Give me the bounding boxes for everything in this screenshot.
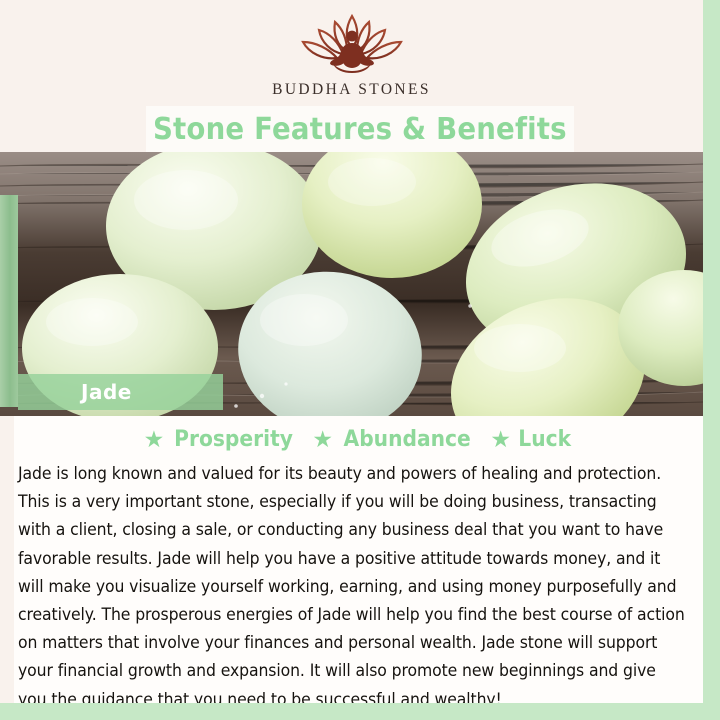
stone-description: Jade is long known and valued for its be… bbox=[18, 460, 688, 714]
brand-logo: BUDDHA STONES bbox=[0, 8, 703, 99]
left-accent-band bbox=[0, 195, 18, 407]
benefit-label: Prosperity bbox=[174, 427, 293, 452]
benefit-label: Luck bbox=[518, 427, 571, 452]
title-banner: Stone Features & Benefits bbox=[146, 106, 574, 152]
stone-name: Jade bbox=[81, 380, 132, 404]
page-title: Stone Features & Benefits bbox=[153, 112, 567, 147]
brand-name: BUDDHA STONES bbox=[272, 81, 431, 99]
lotus-meditation-icon bbox=[277, 8, 427, 80]
content-panel: ★ Prosperity ★ Abundance ★ Luck Jade is … bbox=[14, 416, 703, 703]
header: BUDDHA STONES bbox=[0, 0, 703, 118]
benefits-list: ★ Prosperity ★ Abundance ★ Luck bbox=[14, 422, 703, 456]
star-icon: ★ bbox=[312, 428, 333, 451]
bottom-frame-strip bbox=[0, 703, 720, 720]
benefit-label: Abundance bbox=[344, 427, 471, 452]
benefit-item: ★ Abundance bbox=[312, 427, 476, 452]
stone-name-bar: Jade bbox=[18, 374, 223, 410]
benefit-item: ★ Luck bbox=[490, 427, 573, 452]
star-icon: ★ bbox=[144, 428, 165, 451]
stone-info-card: BUDDHA STONES Stone Features & Benefits bbox=[0, 0, 720, 720]
benefit-item: ★ Prosperity bbox=[144, 427, 299, 452]
star-icon: ★ bbox=[490, 428, 511, 451]
